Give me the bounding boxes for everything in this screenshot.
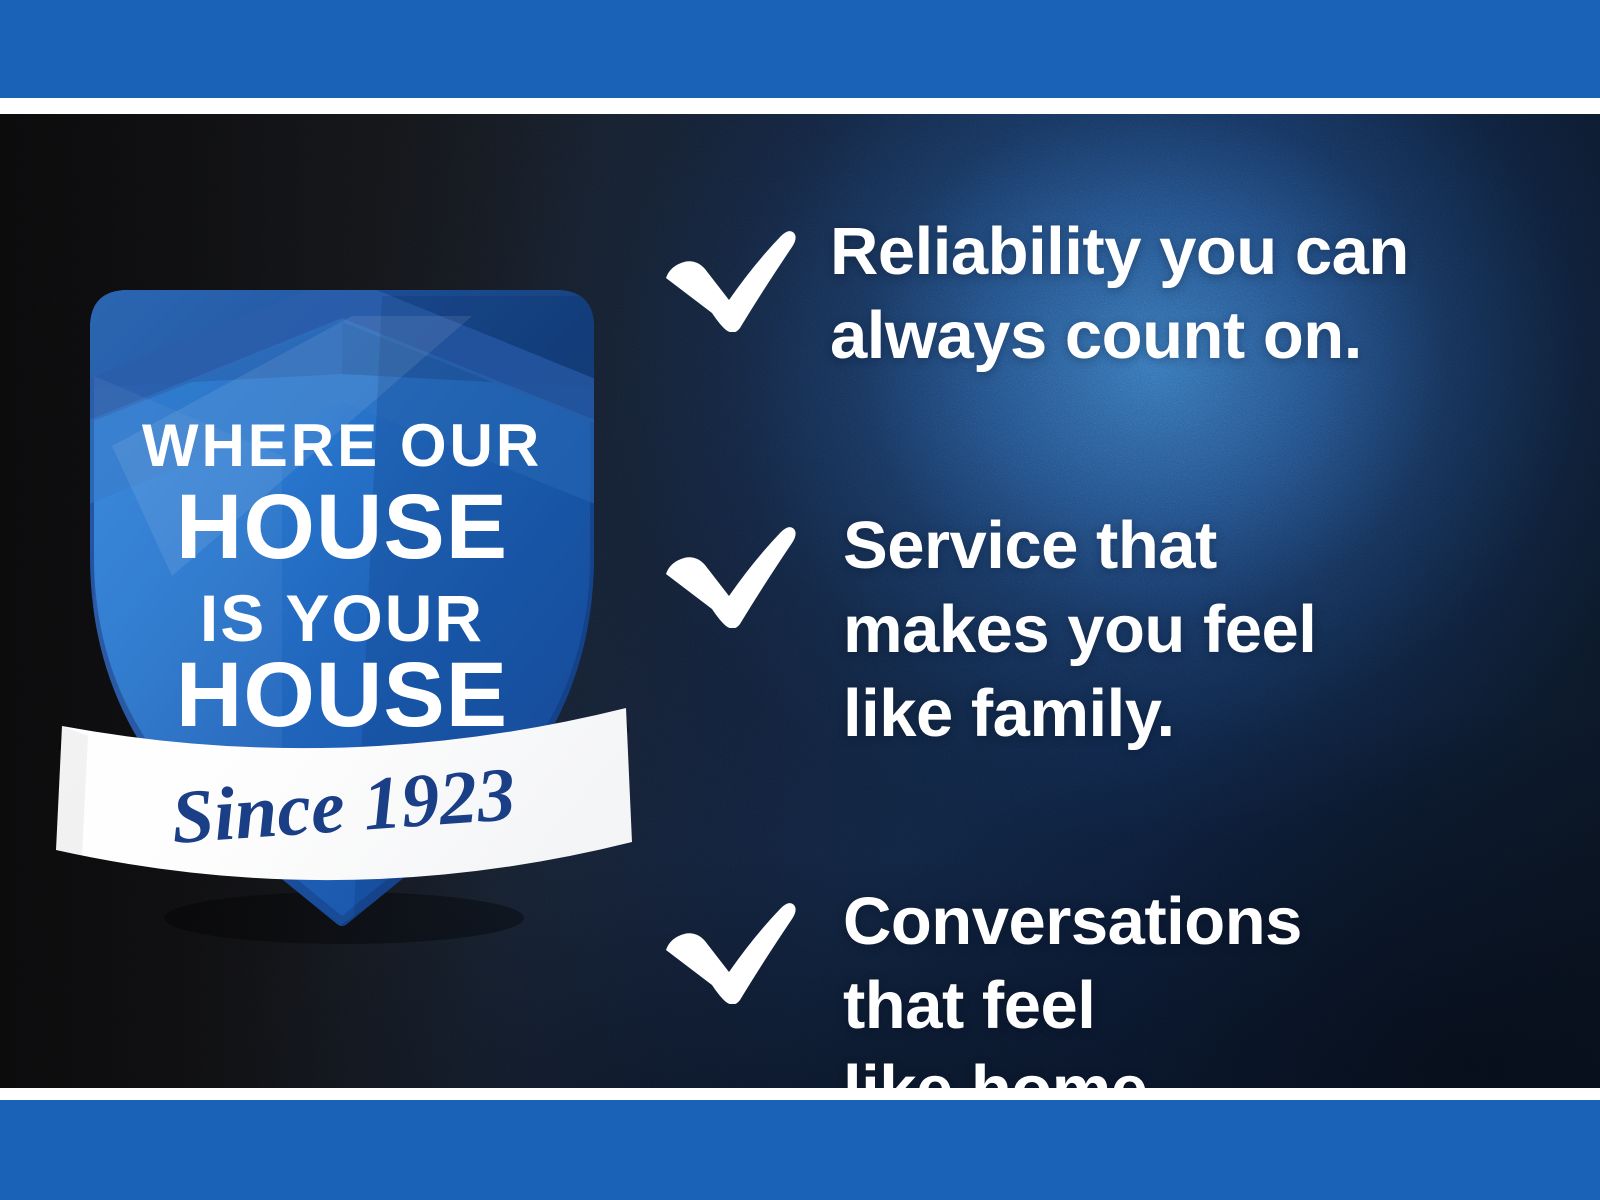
logo-line-1: WHERE OUR xyxy=(142,412,542,479)
checkmark-icon xyxy=(660,880,810,1004)
list-item-label: Reliability you can always count on. xyxy=(830,210,1560,378)
main-stage: WHERE OUR HOUSE IS YOUR HOUSE Since 1923 xyxy=(0,114,1600,1088)
bottom-brand-bar xyxy=(0,1100,1600,1200)
brand-shield-logo: WHERE OUR HOUSE IS YOUR HOUSE Since 1923 xyxy=(52,256,632,946)
benefits-list: Reliability you can always count on. Ser… xyxy=(660,210,1560,1088)
list-item-label: Service that makes you feel like family. xyxy=(843,504,1560,756)
list-item: Conversations that feel like home. xyxy=(660,880,1560,1088)
logo-line-2: HOUSE xyxy=(176,476,508,578)
list-item: Service that makes you feel like family. xyxy=(660,504,1560,756)
list-item-label: Conversations that feel like home. xyxy=(843,880,1560,1088)
checkmark-icon xyxy=(660,504,810,628)
list-item: Reliability you can always count on. xyxy=(660,210,1560,378)
logo-line-4: HOUSE xyxy=(176,644,508,746)
checkmark-icon xyxy=(660,210,810,332)
top-brand-bar xyxy=(0,0,1600,98)
promo-graphic: WHERE OUR HOUSE IS YOUR HOUSE Since 1923 xyxy=(0,0,1600,1200)
